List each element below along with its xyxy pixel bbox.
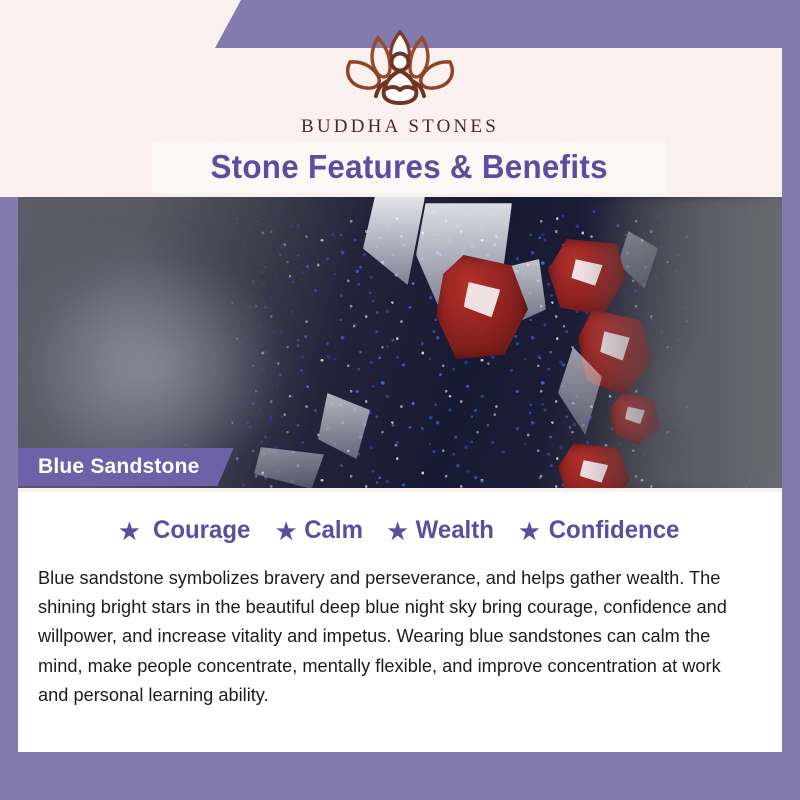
feature-list: ★ Courage ★ Calm ★ Wealth ★ Confidence [18,516,782,545]
star-icon: ★ [518,518,541,544]
stone-name-label: Blue Sandstone [38,455,200,479]
content-card: ★ Courage ★ Calm ★ Wealth ★ Confidence B… [18,492,782,752]
feature-item-courage: ★ Courage [118,516,253,545]
description-text: Blue sandstone symbolizes bravery and pe… [38,563,751,709]
photo-background-blur [582,197,782,488]
feature-label: Wealth [416,516,494,545]
feature-item-wealth: ★ Wealth [386,516,496,545]
feature-label: Confidence [549,516,680,545]
feature-label: Courage [153,516,250,545]
frame-bottom-accent [0,752,600,800]
product-photo [18,197,782,488]
frame-left-edge [0,197,18,800]
feature-item-calm: ★ Calm [275,516,364,545]
feature-item-confidence: ★ Confidence [518,516,682,545]
infographic-poster: BUDDHA STONES Stone Features & Benefits … [0,0,800,800]
star-icon: ★ [275,518,298,544]
star-icon: ★ [118,518,141,544]
brand-logo: BUDDHA STONES [0,18,800,138]
brand-name: BUDDHA STONES [301,116,499,138]
title-banner: Stone Features & Benefits [152,141,666,193]
page-title: Stone Features & Benefits [210,148,607,186]
star-icon: ★ [386,518,409,544]
lotus-meditation-icon [316,18,484,110]
feature-label: Calm [304,516,363,545]
status-badge: Blue Sandstone [18,448,234,486]
